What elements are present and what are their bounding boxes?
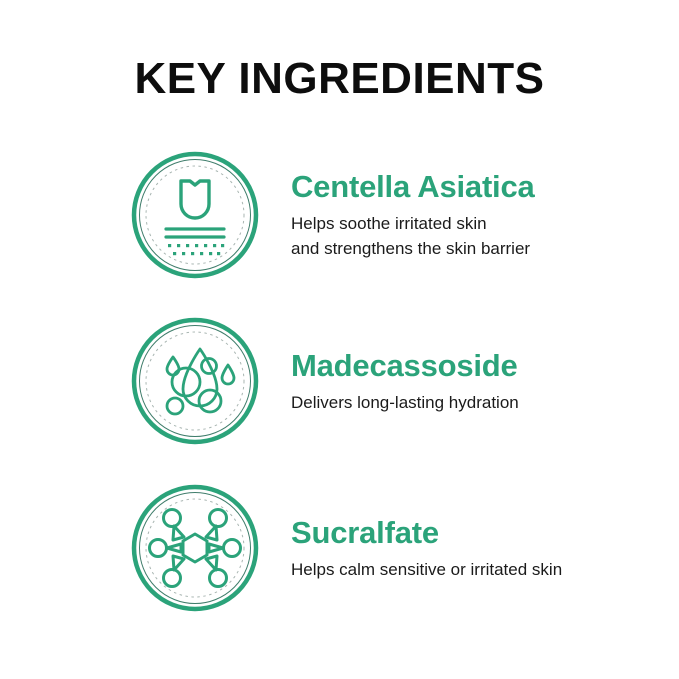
description-line: and strengthens the skin barrier: [291, 236, 535, 261]
page-title: KEY INGREDIENTS: [0, 53, 679, 105]
ingredient-text-block: Madecassoside Delivers long-lasting hydr…: [291, 348, 519, 415]
description-line: Delivers long-lasting hydration: [291, 390, 519, 415]
ingredient-text-block: Centella Asiatica Helps soothe irritated…: [291, 169, 535, 261]
shield-skin-barrier-icon: [131, 151, 259, 279]
ingredient-row: Sucralfate Helps calm sensitive or irrit…: [0, 483, 679, 613]
ingredient-text-block: Sucralfate Helps calm sensitive or irrit…: [291, 515, 562, 582]
description-line: Helps soothe irritated skin: [291, 211, 535, 236]
ingredient-description: Helps soothe irritated skin and strength…: [291, 211, 535, 261]
key-ingredients-panel: KEY INGREDIENTS: [0, 0, 679, 679]
ingredient-description: Helps calm sensitive or irritated skin: [291, 557, 562, 582]
ingredient-name: Centella Asiatica: [291, 169, 535, 205]
ingredient-name: Sucralfate: [291, 515, 562, 551]
ingredient-row: Centella Asiatica Helps soothe irritated…: [0, 150, 679, 280]
ingredient-row: Madecassoside Delivers long-lasting hydr…: [0, 316, 679, 446]
ingredient-name: Madecassoside: [291, 348, 519, 384]
water-droplet-molecule-icon: [131, 317, 259, 445]
ingredient-description: Delivers long-lasting hydration: [291, 390, 519, 415]
hexagon-molecule-network-icon: [131, 484, 259, 612]
description-line: Helps calm sensitive or irritated skin: [291, 557, 562, 582]
